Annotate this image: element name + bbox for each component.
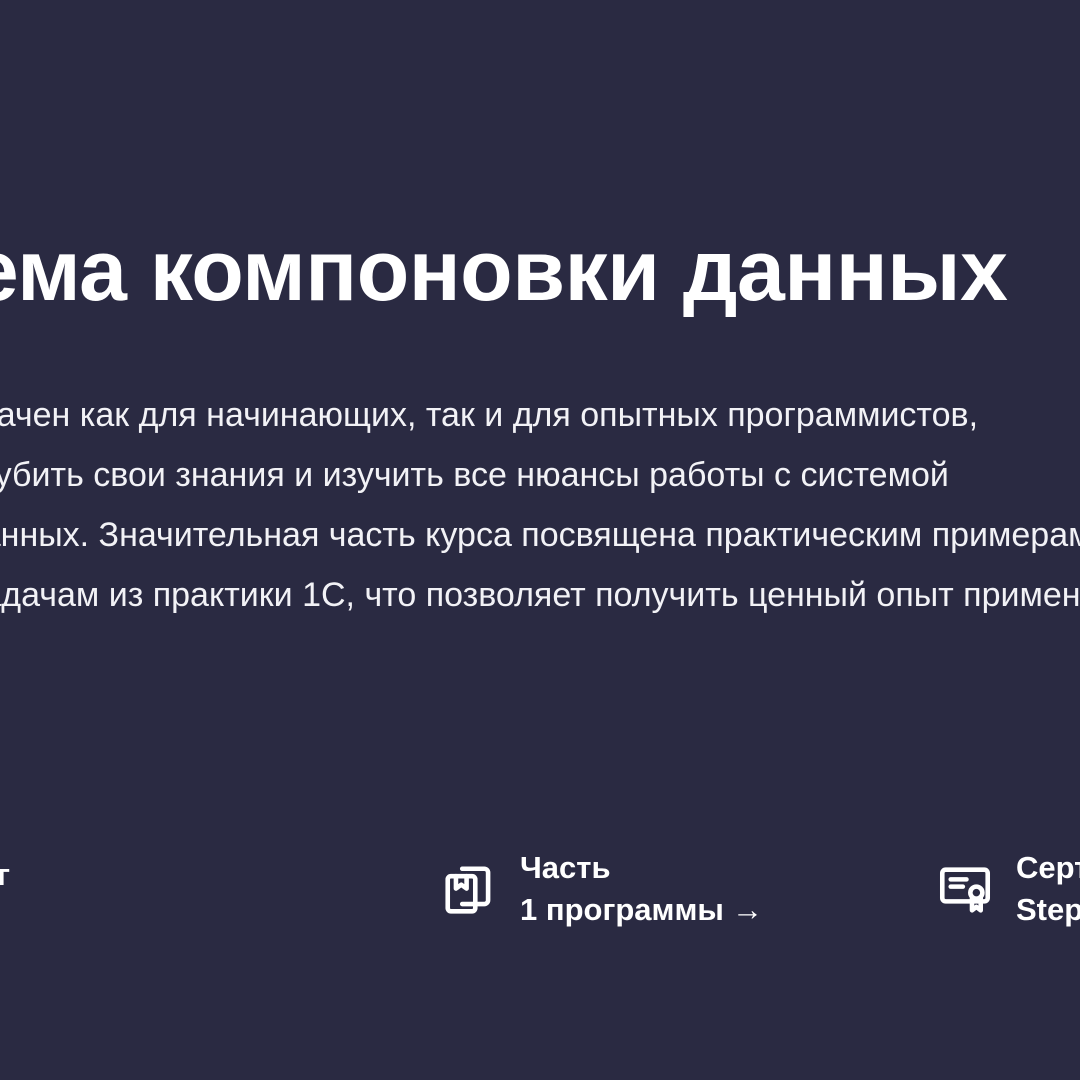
meta-item-part[interactable]: Часть 1 программы→ <box>440 840 763 940</box>
hero-banner: Система компоновки данных Курс предназна… <box>0 0 1080 1080</box>
description-line: Курс предназначен как для начинающих, та… <box>0 385 1080 445</box>
certificate-icon <box>936 861 994 919</box>
meta-item-text: Часть 1 программы→ <box>520 848 763 932</box>
meta-item-bottom-label: 4.9 / 10 <box>0 895 10 941</box>
meta-item-text: Сертификат Stepik <box>1016 848 1080 932</box>
meta-item-bottom-label: Stepik <box>1016 888 1080 932</box>
page-title: Система компоновки данных <box>0 228 1007 314</box>
meta-item-bottom-label-row: 1 программы→ <box>520 888 763 932</box>
meta-item-rating[interactable]: Рейтинг 4.9 / 10 <box>0 848 10 948</box>
stacked-books-icon <box>440 861 498 919</box>
course-meta-strip: Рейтинг 4.9 / 10 Часть 1 программы→ <box>0 840 1080 950</box>
meta-item-certificate[interactable]: Сертификат Stepik <box>936 840 1080 940</box>
description-line: компоновки данных. Значительная часть ку… <box>0 505 1080 565</box>
meta-item-top-label: Рейтинг <box>0 855 10 895</box>
course-description: Курс предназначен как для начинающих, та… <box>0 385 1080 625</box>
meta-item-top-label: Сертификат <box>1016 848 1080 888</box>
meta-item-text: Рейтинг 4.9 / 10 <box>0 855 10 941</box>
meta-item-top-label: Часть <box>520 848 763 888</box>
description-line: желающих углубить свои знания и изучить … <box>0 445 1080 505</box>
description-line: и реальным задачам из практики 1С, что п… <box>0 565 1080 625</box>
meta-item-bottom-label: 1 программы <box>520 892 724 927</box>
arrow-right-icon: → <box>724 892 763 927</box>
